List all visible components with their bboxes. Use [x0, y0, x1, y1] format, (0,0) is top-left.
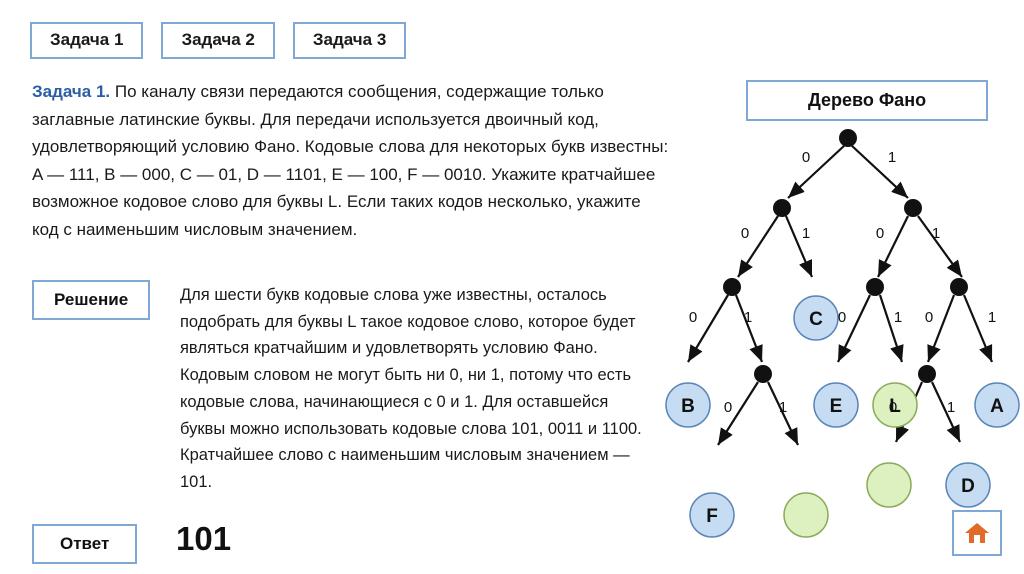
edge-label: 0: [838, 309, 846, 326]
solution-label-text: Решение: [54, 290, 128, 309]
node-root: [839, 129, 857, 147]
edge-label: 0: [724, 399, 732, 416]
home-icon: [964, 521, 990, 545]
node-110: [918, 365, 936, 383]
edge-label: 0: [925, 309, 933, 326]
leaf-b-label: B: [681, 396, 695, 417]
task-statement: Задача 1. По каналу связи передаются соо…: [32, 78, 672, 243]
leaf-d-label: D: [961, 476, 975, 497]
leaf-c-label: C: [809, 309, 823, 330]
tab-task-3[interactable]: Задача 3: [293, 22, 406, 59]
edge-label: 1: [802, 225, 810, 242]
tree-leaves: C B E L A F D: [666, 296, 1019, 537]
solution-paragraph-2: Кодовым словом не могут быть ни 0, ни 1,…: [180, 362, 650, 496]
edge-label: 1: [894, 309, 902, 326]
node-10: [866, 278, 884, 296]
fano-tree-diagram: C B E L A F D 0 1 0 1 0 1 0 1 0 1 0 1 0 …: [640, 120, 1024, 550]
edge-label: 1: [988, 309, 996, 326]
solution-text: Для шести букв кодовые слова уже известн…: [180, 282, 650, 496]
tab-task-2[interactable]: Задача 2: [161, 22, 274, 59]
node-1: [904, 199, 922, 217]
task-body: По каналу связи передаются сообщения, со…: [32, 82, 668, 239]
edge-label: 1: [932, 225, 940, 242]
edge-label: 1: [947, 399, 955, 416]
answer-label-text: Ответ: [60, 534, 109, 553]
leaf-f-label: F: [706, 506, 718, 527]
edge-label: 1: [888, 149, 896, 166]
solution-paragraph-1: Для шести букв кодовые слова уже известн…: [180, 282, 650, 362]
edge-label: 0: [876, 225, 884, 242]
leaf-free-0011: [784, 493, 828, 537]
edge-label: 1: [744, 309, 752, 326]
node-001: [754, 365, 772, 383]
task-lead: Задача 1.: [32, 82, 110, 101]
tree-title: Дерево Фано: [746, 80, 988, 121]
edge-label: 0: [802, 149, 810, 166]
home-button[interactable]: [952, 510, 1002, 556]
node-11: [950, 278, 968, 296]
answer-value: 101: [176, 520, 231, 558]
node-0: [773, 199, 791, 217]
tab-task-1[interactable]: Задача 1: [30, 22, 143, 59]
leaf-a-label: A: [990, 396, 1004, 417]
edge-label: 0: [741, 225, 749, 242]
leaf-free-1100: [867, 463, 911, 507]
edge-label: 0: [889, 399, 897, 416]
edge-label: 0: [689, 309, 697, 326]
solution-label: Решение: [32, 280, 150, 320]
tab-bar: Задача 1 Задача 2 Задача 3: [30, 22, 406, 59]
edge-label: 1: [779, 399, 787, 416]
node-00: [723, 278, 741, 296]
leaf-e-label: E: [830, 396, 843, 417]
answer-label: Ответ: [32, 524, 137, 564]
